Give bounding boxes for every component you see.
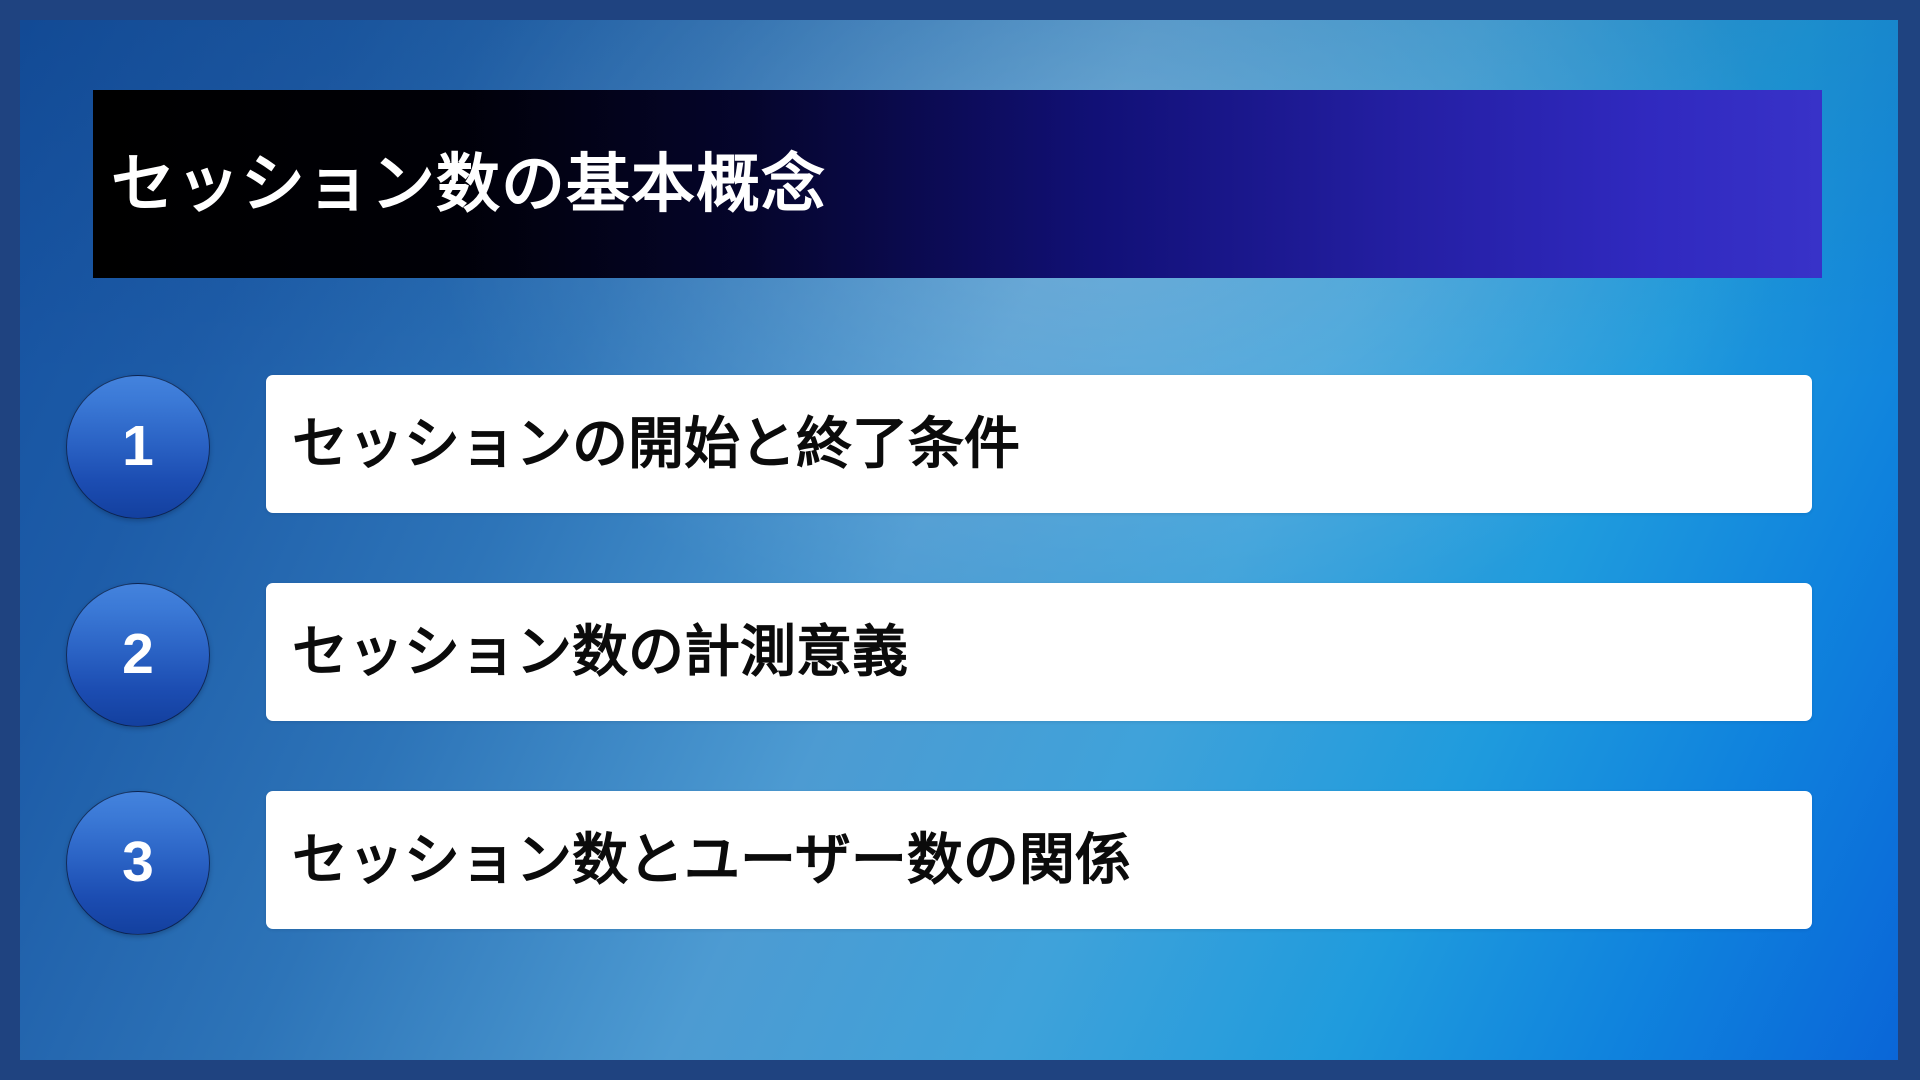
agenda-list: 1 セッションの開始と終了条件 2 セッション数の計測意義 3 — [20, 375, 1898, 944]
list-item[interactable]: 1 セッションの開始と終了条件 — [20, 375, 1898, 528]
agenda-card-label: セッション数とユーザー数の関係 — [266, 832, 1131, 888]
agenda-card-label: セッションの開始と終了条件 — [266, 416, 1020, 472]
slide-content-area: セッション数の基本概念 1 セッションの開始と終了条件 2 セッション数の計測意… — [20, 20, 1898, 1060]
agenda-card-label: セッション数の計測意義 — [266, 624, 908, 680]
page-title: セッション数の基本概念 — [93, 152, 826, 216]
agenda-card[interactable]: セッション数とユーザー数の関係 — [266, 791, 1812, 929]
step-number-label: 1 — [122, 418, 154, 475]
list-item[interactable]: 3 セッション数とユーザー数の関係 — [20, 791, 1898, 944]
step-number-badge: 2 — [66, 583, 210, 727]
step-number-label: 3 — [122, 834, 154, 891]
agenda-card[interactable]: セッションの開始と終了条件 — [266, 375, 1812, 513]
step-number-badge: 3 — [66, 791, 210, 935]
slide-title-bar: セッション数の基本概念 — [93, 90, 1822, 278]
list-item[interactable]: 2 セッション数の計測意義 — [20, 583, 1898, 736]
slide: セッション数の基本概念 1 セッションの開始と終了条件 2 セッション数の計測意… — [0, 0, 1920, 1080]
step-number-label: 2 — [122, 626, 154, 683]
agenda-card[interactable]: セッション数の計測意義 — [266, 583, 1812, 721]
step-number-badge: 1 — [66, 375, 210, 519]
